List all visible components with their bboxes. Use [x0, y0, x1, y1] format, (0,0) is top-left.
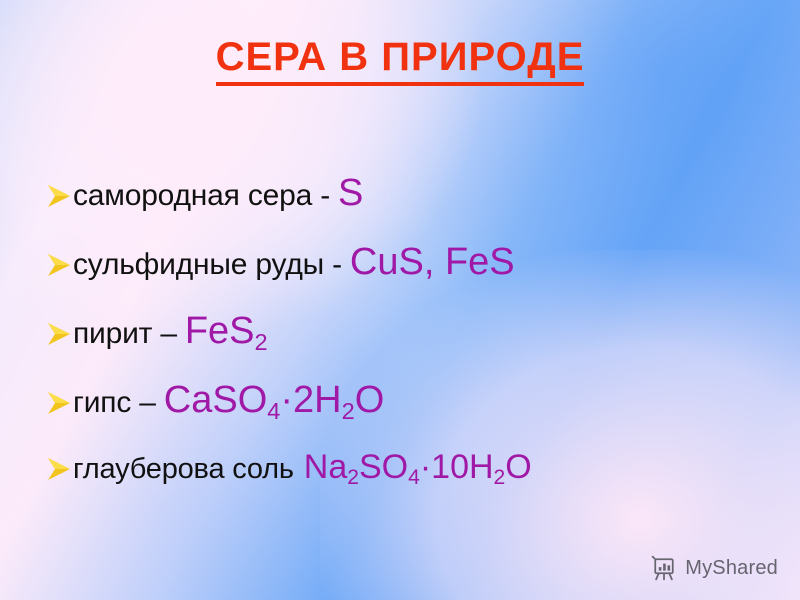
formula-subscript: 2 — [494, 466, 506, 489]
formula-part: O — [355, 379, 385, 421]
formula-subscript: 2 — [255, 329, 268, 355]
formula-part: ·10H — [420, 448, 494, 486]
formula-part: FeS — [185, 310, 255, 352]
chemical-formula: FeS2 — [185, 310, 268, 353]
chemical-formula: Na2SO4·10H2O — [304, 448, 532, 487]
title-area: СЕРА В ПРИРОДЕ — [0, 36, 800, 86]
list-item-label: сульфидные руды - — [73, 248, 342, 282]
chemical-formula: CaSO4·2H2O — [164, 379, 385, 422]
yellow-arrow-bullet-icon — [46, 456, 72, 482]
formula-subscript: 2 — [342, 398, 355, 424]
list-item-label: глауберова соль — [73, 453, 294, 486]
yellow-arrow-bullet-icon — [46, 252, 72, 278]
yellow-arrow-bullet-icon — [46, 183, 72, 209]
myshared-logo-text: MyShared — [685, 557, 778, 580]
list-item: гипс – CaSO4·2H2O — [46, 379, 786, 448]
formula-part: Na — [304, 448, 347, 486]
list-item: самородная сера - S — [46, 172, 786, 241]
formula-subscript: 2 — [347, 466, 359, 489]
formula-part: S — [338, 172, 363, 214]
page-title: СЕРА В ПРИРОДЕ — [216, 36, 585, 86]
presentation-chart-icon — [650, 554, 678, 582]
formula-part: O — [505, 448, 531, 486]
formula-subscript: 4 — [267, 398, 280, 424]
yellow-arrow-bullet-icon — [46, 390, 72, 416]
list-item: глауберова соль Na2SO4·10H2O — [46, 448, 786, 517]
list-item-label: пирит – — [73, 317, 177, 351]
formula-part: SO — [359, 448, 408, 486]
formula-part: CuS, FeS — [350, 241, 515, 283]
list-item-label: самородная сера - — [73, 179, 330, 213]
formula-part: ·2H — [280, 379, 341, 421]
list-item: пирит – FeS2 — [46, 310, 786, 379]
list-item: сульфидные руды - CuS, FeS — [46, 241, 786, 310]
list-item-label: гипс – — [73, 386, 156, 420]
yellow-arrow-bullet-icon — [46, 321, 72, 347]
bullet-list: самородная сера - Sсульфидные руды - CuS… — [46, 172, 786, 517]
formula-subscript: 4 — [408, 466, 420, 489]
formula-part: CaSO — [164, 379, 267, 421]
chemical-formula: S — [338, 172, 363, 215]
myshared-logo: MyShared — [650, 554, 778, 582]
slide-canvas: СЕРА В ПРИРОДЕ самородная сера - Sсульфи… — [0, 0, 800, 600]
chemical-formula: CuS, FeS — [350, 241, 515, 284]
